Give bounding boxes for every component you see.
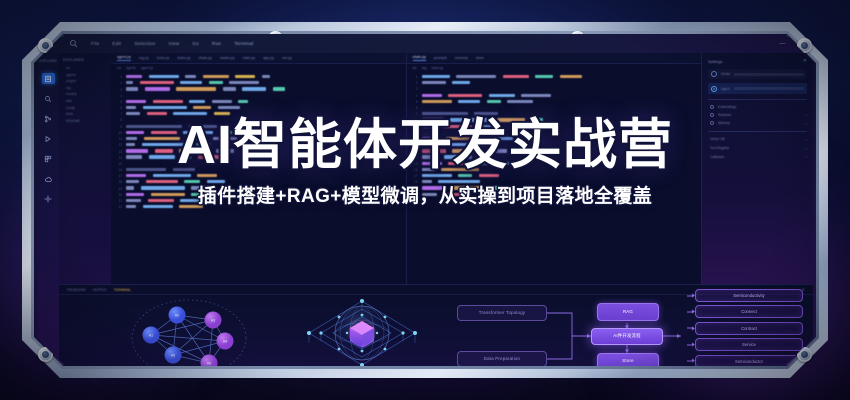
banner-stage: File Edit Selection View Go Run Terminal… [0,0,850,400]
vignette-overlay [0,0,850,400]
